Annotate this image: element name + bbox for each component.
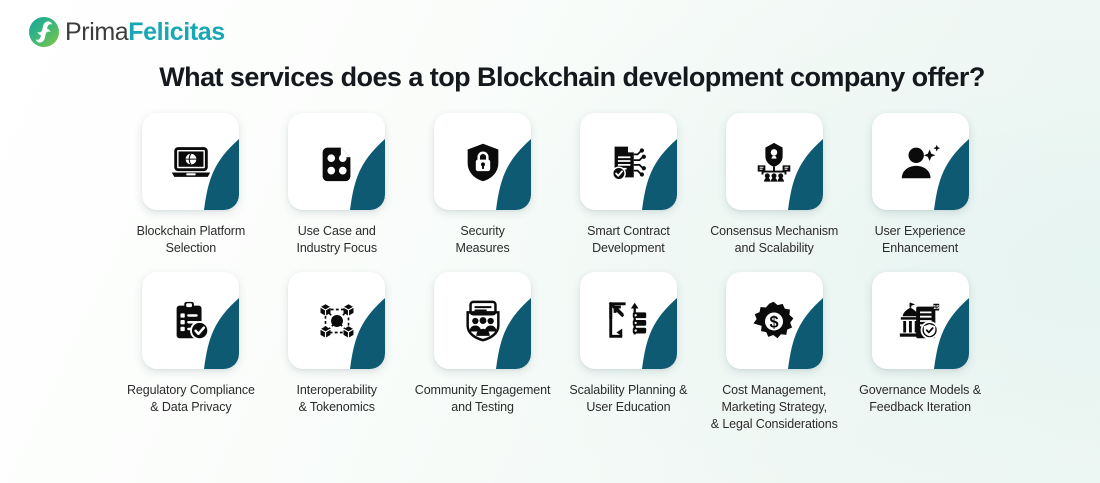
service-card-tile[interactable] — [580, 113, 677, 210]
service-card-tile[interactable] — [142, 272, 239, 369]
svg-text:15: 15 — [933, 305, 939, 311]
service-card-tile[interactable] — [434, 272, 531, 369]
service-card-use-case-industry-focus[interactable]: Use Case and Industry Focus — [264, 113, 410, 256]
community-speech-icon — [460, 298, 506, 344]
service-card-tile[interactable] — [142, 113, 239, 210]
service-card-smart-contract-development[interactable]: Smart Contract Development — [555, 113, 701, 256]
service-card-label: Security Measures — [456, 223, 510, 256]
four-dots-grid-icon — [314, 139, 360, 185]
service-card-label: Scalability Planning & User Education — [569, 382, 687, 415]
service-card-label: Smart Contract Development — [587, 223, 670, 256]
service-card-tile[interactable]: 15 — [872, 272, 969, 369]
brand-name-prima: Prima — [65, 18, 128, 46]
service-card-label: Regulatory Compliance & Data Privacy — [127, 382, 255, 415]
services-grid: Blockchain Platform Selection Use Case a… — [118, 113, 993, 432]
service-card-tile[interactable] — [872, 113, 969, 210]
service-card-tile[interactable] — [580, 272, 677, 369]
brand-name: PrimaFelicitas — [65, 20, 225, 45]
service-card-security-measures[interactable]: Security Measures — [410, 113, 556, 256]
governance-building-icon: 15 — [897, 298, 943, 344]
service-card-label: Cost Management, Marketing Strategy, & L… — [711, 382, 838, 432]
service-card-scalability-planning-user-education[interactable]: Scalability Planning & User Education — [555, 272, 701, 432]
laptop-globe-icon — [168, 139, 214, 185]
service-card-label: Blockchain Platform Selection — [137, 223, 246, 256]
node-mesh-icon — [314, 298, 360, 344]
service-card-regulatory-compliance-data-privacy[interactable]: Regulatory Compliance & Data Privacy — [118, 272, 264, 432]
consensus-network-icon — [751, 139, 797, 185]
service-card-user-experience-enhancement[interactable]: User Experience Enhancement — [847, 113, 993, 256]
brand-logo: PrimaFelicitas — [28, 16, 225, 48]
service-card-blockchain-platform-selection[interactable]: Blockchain Platform Selection — [118, 113, 264, 256]
service-card-label: Consensus Mechanism and Scalability — [710, 223, 838, 256]
service-card-tile[interactable] — [288, 113, 385, 210]
service-card-label: User Experience Enhancement — [875, 223, 966, 256]
service-card-tile[interactable] — [288, 272, 385, 369]
svg-text:$: $ — [770, 313, 779, 331]
gear-dollar-icon: $ — [751, 298, 797, 344]
page-title: What services does a top Blockchain deve… — [0, 62, 1100, 93]
user-sparkle-icon — [897, 139, 943, 185]
clipboard-check-icon — [168, 298, 214, 344]
service-card-cost-management-marketing-legal[interactable]: $ Cost Management, Marketing Strategy, &… — [701, 272, 847, 432]
contract-circuit-check-icon — [605, 139, 651, 185]
service-card-community-engagement-testing[interactable]: Community Engagement and Testing — [410, 272, 556, 432]
scalability-server-icon — [605, 298, 651, 344]
primafelicitas-swirl-logo-icon — [28, 16, 60, 48]
service-card-tile[interactable]: $ — [726, 272, 823, 369]
service-card-label: Governance Models & Feedback Iteration — [859, 382, 981, 415]
service-card-tile[interactable] — [434, 113, 531, 210]
service-card-label: Community Engagement and Testing — [415, 382, 551, 415]
service-card-label: Interoperability & Tokenomics — [297, 382, 377, 415]
service-card-tile[interactable] — [726, 113, 823, 210]
service-card-governance-models-feedback-iteration[interactable]: 15 Governance Models & Feedback Iteratio… — [847, 272, 993, 432]
service-card-interoperability-tokenomics[interactable]: Interoperability & Tokenomics — [264, 272, 410, 432]
service-card-consensus-mechanism-scalability[interactable]: Consensus Mechanism and Scalability — [701, 113, 847, 256]
service-card-label: Use Case and Industry Focus — [296, 223, 377, 256]
infographic-canvas: PrimaFelicitas What services does a top … — [0, 0, 1100, 483]
shield-lock-icon — [460, 139, 506, 185]
brand-name-felicitas: Felicitas — [128, 18, 224, 46]
